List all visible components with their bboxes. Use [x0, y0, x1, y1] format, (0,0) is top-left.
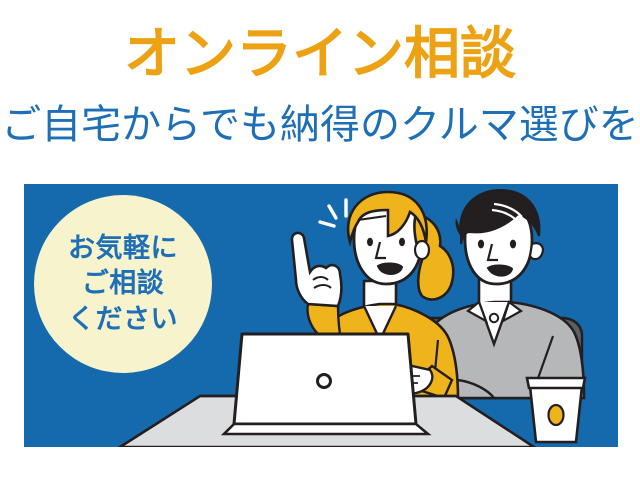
page-subtitle: ご自宅からでも納得のクルマ選びを: [0, 105, 640, 145]
consultation-badge: お気軽に ご相談 ください: [34, 195, 212, 373]
badge-line-3: ください: [68, 302, 178, 337]
online-consultation-banner: オンライン相談 ご自宅からでも納得のクルマ選びを: [0, 0, 640, 480]
page-title: オンライン相談: [0, 26, 640, 82]
badge-line-1: お気軽に: [68, 231, 178, 266]
badge-line-2: ご相談: [82, 266, 165, 301]
laptop: [224, 334, 428, 434]
coffee-cup: [527, 378, 585, 442]
